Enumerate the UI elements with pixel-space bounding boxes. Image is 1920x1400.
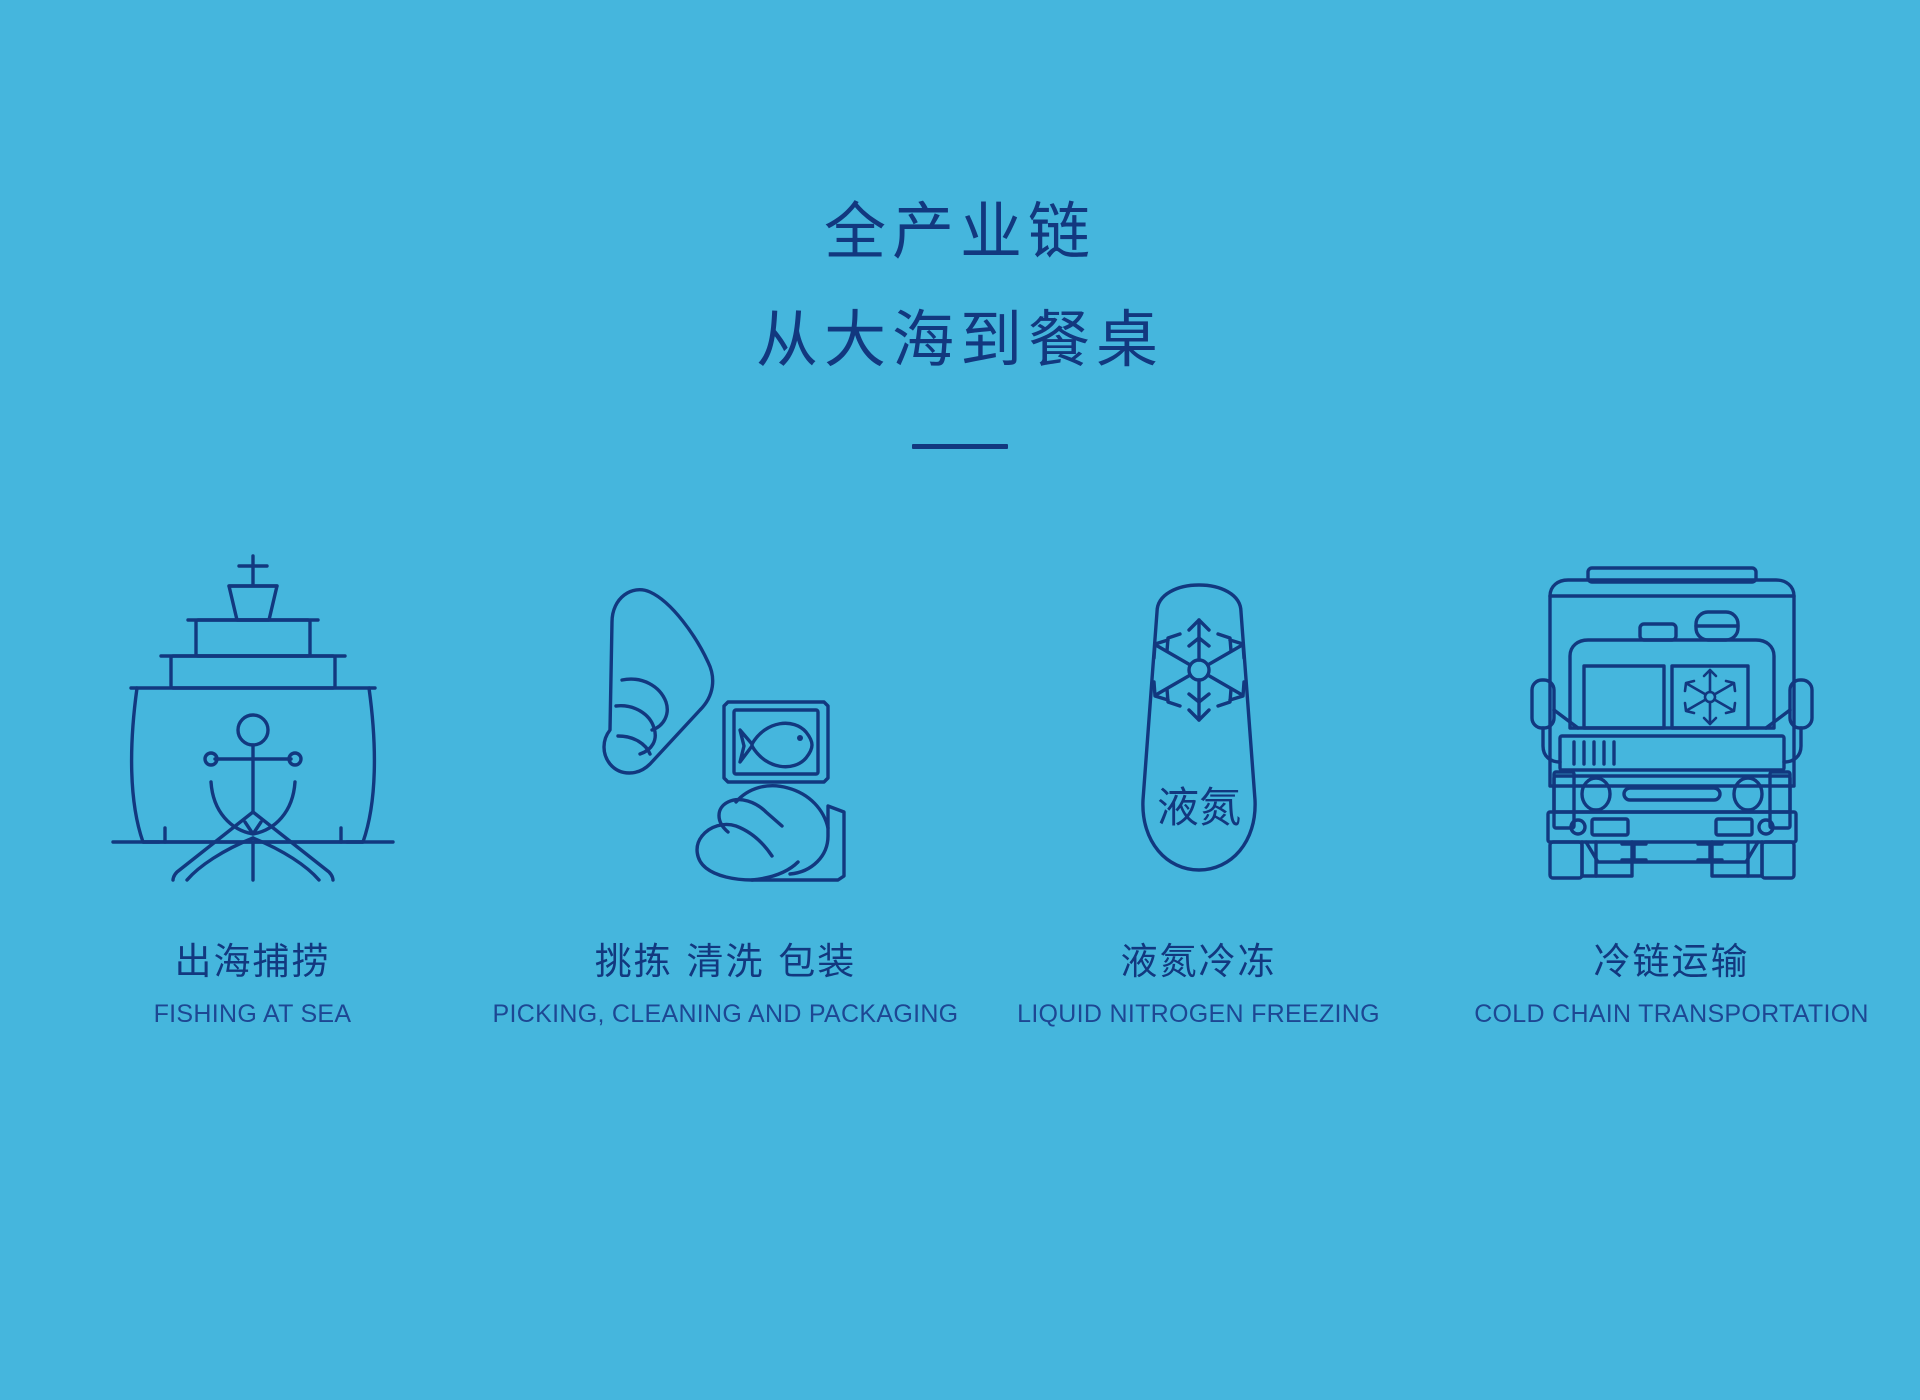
lower-hand-fingers-top xyxy=(736,786,828,828)
step-title-en: LIQUID NITROGEN FREEZING xyxy=(1017,996,1380,1032)
truck-roof-light-small xyxy=(1640,624,1676,640)
truck-grille-slats xyxy=(1574,742,1614,764)
upper-hand-outline xyxy=(604,590,713,773)
step-cold-chain-transportation[interactable]: 冷链运输 COLD CHAIN TRANSPORTATION xyxy=(1435,520,1908,1032)
process-steps: 出海捕捞 FISHING AT SEA xyxy=(0,520,1920,1032)
liquid-nitrogen-tank-icon: 液氮 xyxy=(1049,550,1349,880)
truck-tire-right xyxy=(1762,842,1794,878)
hands-fish-package-icon xyxy=(576,550,876,880)
step-title-cn: 液氮冷冻 xyxy=(1017,938,1380,986)
refrigerated-truck-icon xyxy=(1522,550,1822,880)
truck-bumper-panel-left xyxy=(1592,819,1628,835)
step-caption: 出海捕捞 FISHING AT SEA xyxy=(154,938,352,1032)
upper-hand-finger-2 xyxy=(616,706,655,754)
truck-headlight-left xyxy=(1582,778,1610,810)
step-caption: 挑拣 清洗 包装 PICKING, CLEANING AND PACKAGING xyxy=(493,938,959,1032)
step-picking-cleaning-packaging[interactable]: 挑拣 清洗 包装 PICKING, CLEANING AND PACKAGING xyxy=(489,520,962,1032)
fish-body xyxy=(752,723,812,766)
step-caption: 冷链运输 COLD CHAIN TRANSPORTATION xyxy=(1474,938,1869,1032)
upper-hand-finger-1 xyxy=(622,679,667,730)
step-caption: 液氮冷冻 LIQUID NITROGEN FREEZING xyxy=(1017,938,1380,1032)
step-liquid-nitrogen-freezing[interactable]: 液氮 液氮冷冻 LIQUID NITROGEN FREEZING xyxy=(962,520,1435,1032)
step-title-cn: 挑拣 清洗 包装 xyxy=(493,938,959,986)
lower-hand-palm-line xyxy=(752,862,798,880)
truck-corner-post-right xyxy=(1770,772,1790,828)
snowflake-icon xyxy=(1685,670,1735,724)
truck-tow-hooks xyxy=(1622,844,1722,860)
step-title-cn: 出海捕捞 xyxy=(154,938,352,986)
truck-headlight-right xyxy=(1734,778,1762,810)
step-icon-wrap xyxy=(1522,520,1822,880)
step-fishing-at-sea[interactable]: 出海捕捞 FISHING AT SEA xyxy=(16,520,489,1032)
truck-corner-post-left xyxy=(1554,772,1574,828)
step-icon-wrap xyxy=(103,520,403,880)
fish-eye xyxy=(797,735,803,741)
lower-hand-thumb xyxy=(719,800,782,832)
truck-windshield-left xyxy=(1584,666,1664,728)
heading-line-2: 从大海到餐桌 xyxy=(0,286,1920,394)
truck-center-strip xyxy=(1624,788,1720,800)
heading-line-1: 全产业链 xyxy=(0,178,1920,286)
truck-bumper-panel-right xyxy=(1716,819,1752,835)
step-title-en: PICKING, CLEANING AND PACKAGING xyxy=(493,996,959,1032)
step-icon-wrap xyxy=(576,520,876,880)
lower-hand-pinky xyxy=(702,824,772,856)
heading-divider-rule xyxy=(912,444,1008,449)
heading-divider-wrap xyxy=(0,436,1920,454)
fish-tail xyxy=(740,730,752,762)
truck-skid-plate xyxy=(1586,842,1758,862)
step-title-cn: 冷链运输 xyxy=(1474,938,1869,986)
snowflake-icon xyxy=(1154,620,1244,720)
step-title-en: COLD CHAIN TRANSPORTATION xyxy=(1474,996,1869,1032)
page-root: 全产业链 从大海到餐桌 xyxy=(0,0,1920,1400)
page-heading: 全产业链 从大海到餐桌 xyxy=(0,178,1920,454)
nitrogen-tank-label: 液氮 xyxy=(1156,783,1240,832)
fishing-boat-icon xyxy=(103,550,403,880)
step-icon-wrap: 液氮 xyxy=(1049,520,1349,880)
truck-tire-left xyxy=(1550,842,1582,878)
step-title-en: FISHING AT SEA xyxy=(154,996,352,1032)
